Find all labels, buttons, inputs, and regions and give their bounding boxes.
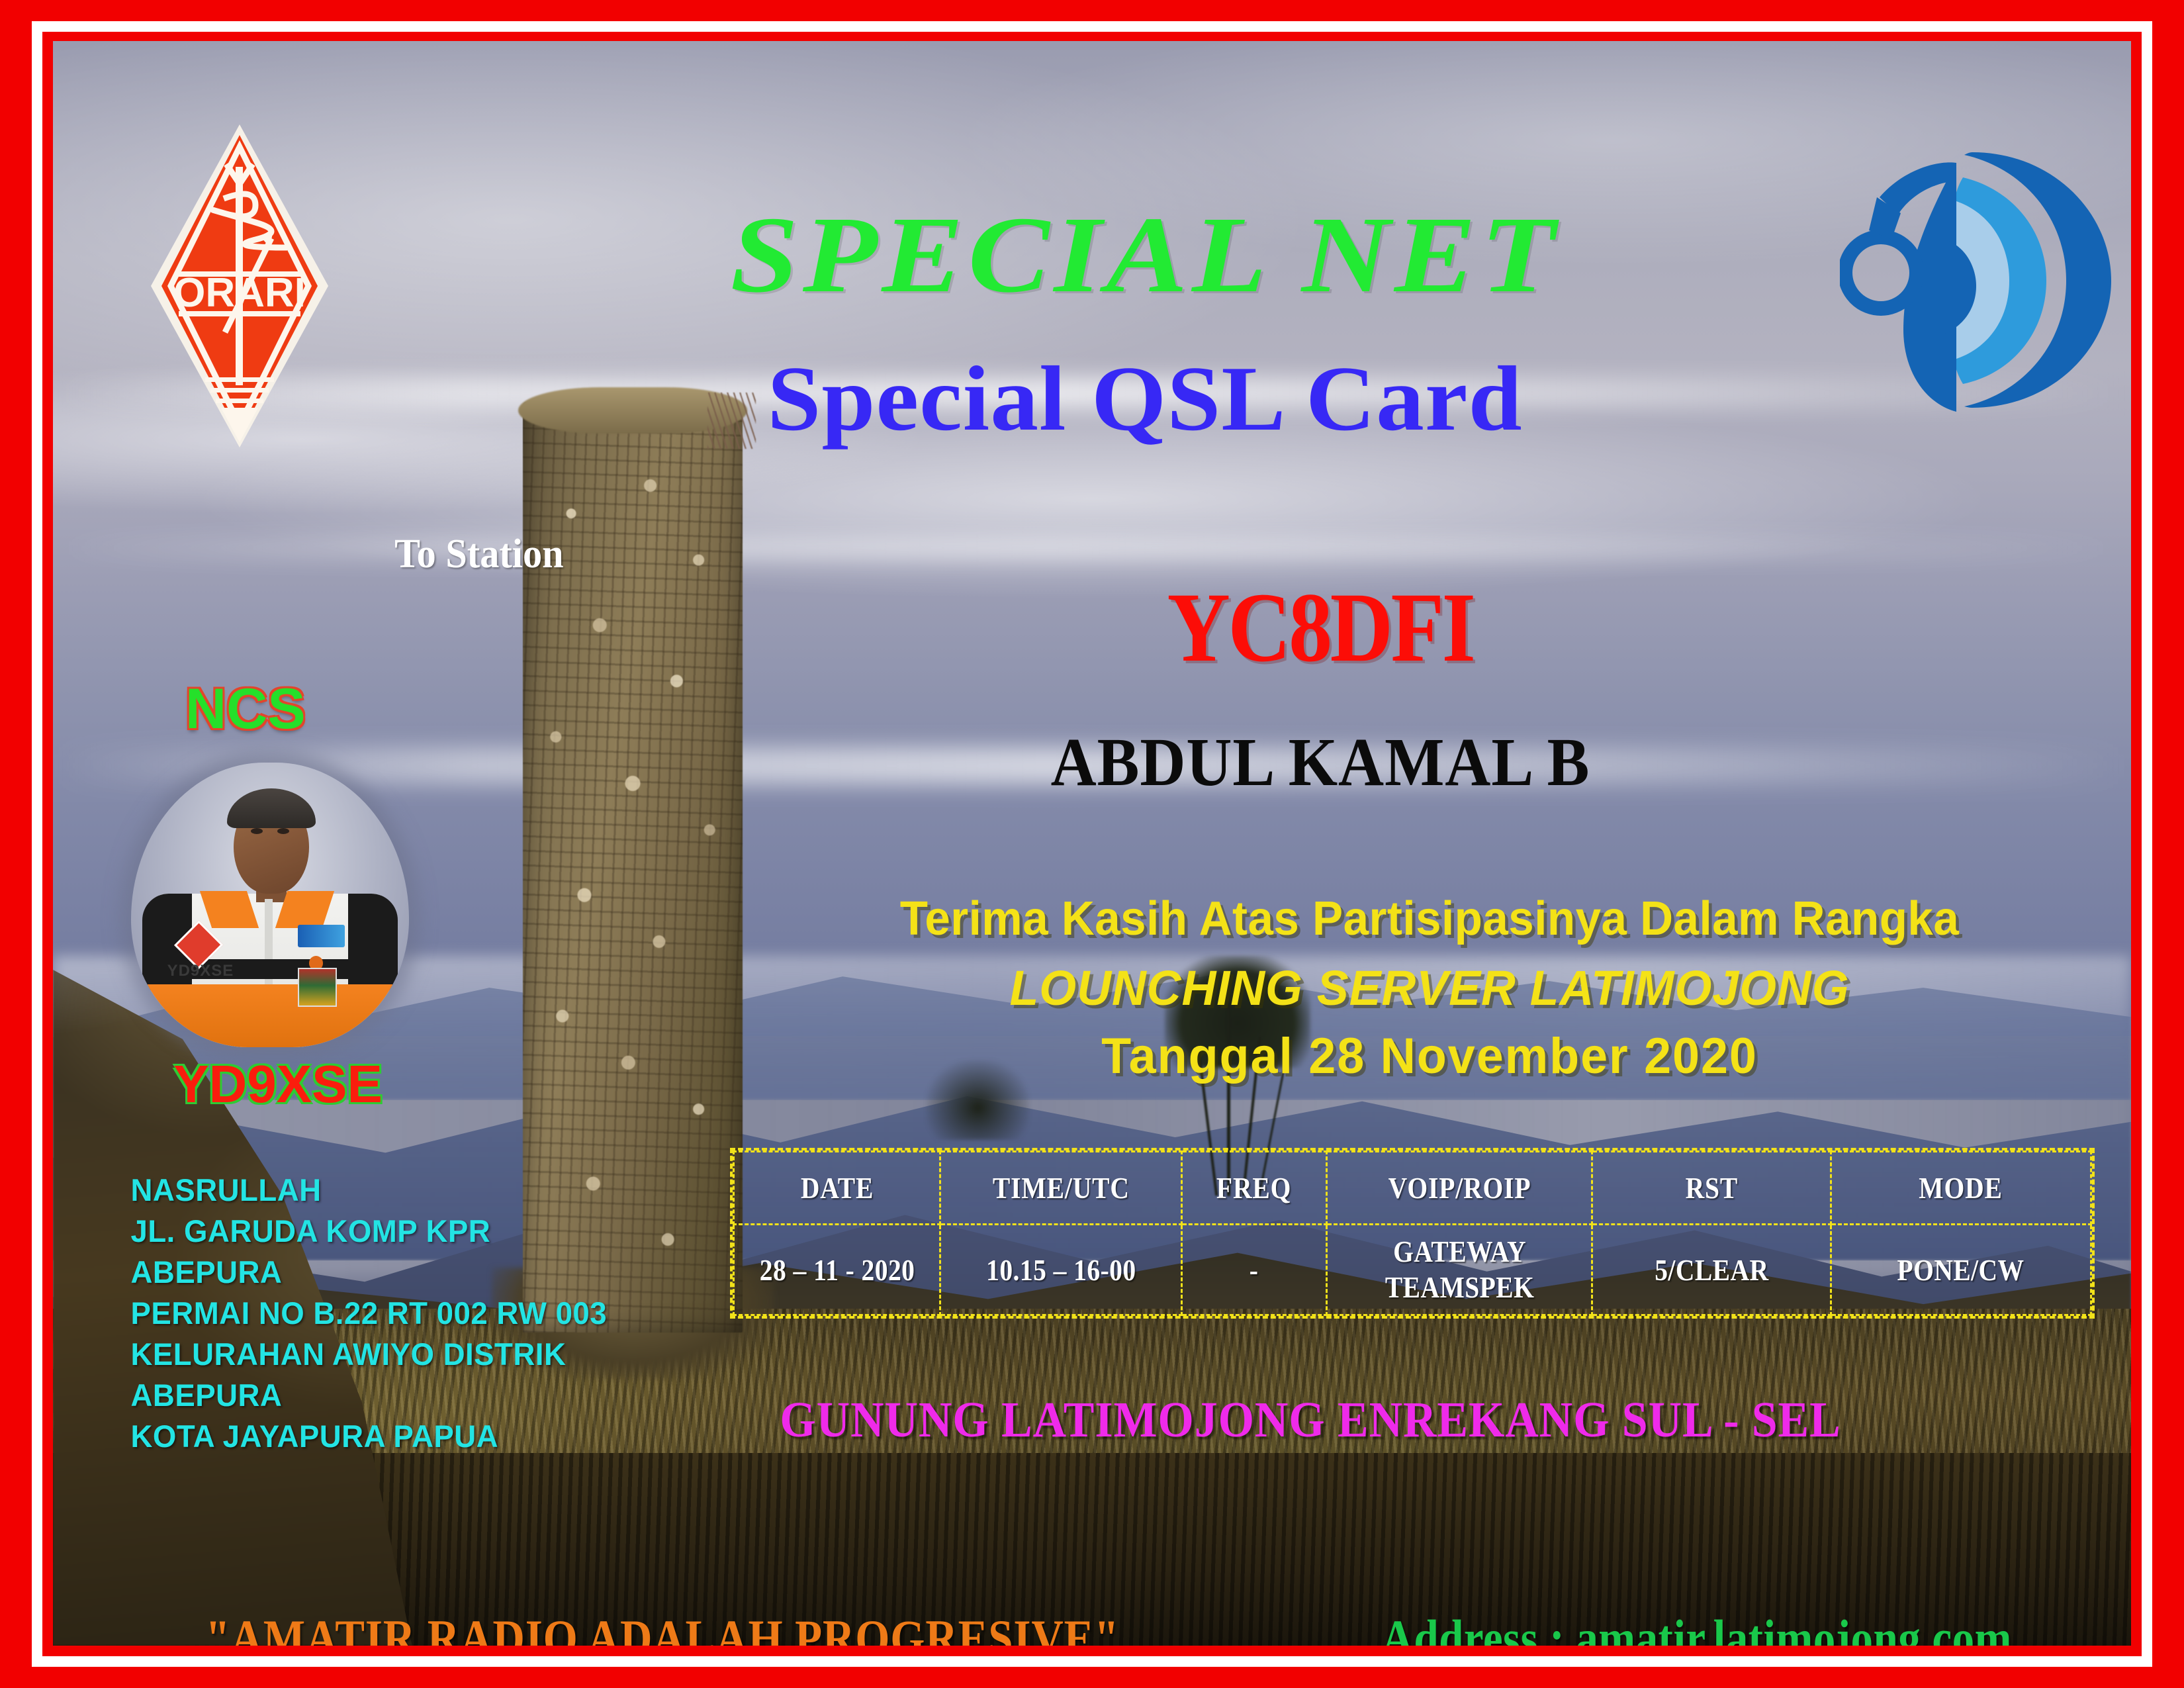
avatar-chest-badge — [298, 925, 345, 947]
cell-date: 28 – 11 - 2020 — [748, 1225, 925, 1315]
motto-text: "AMATIR RADIO ADALAH PROGRESIVE" — [205, 1609, 1119, 1646]
avatar-shirt-waist — [148, 984, 392, 1047]
column-header-voip: VOIP/ROIP — [1345, 1152, 1574, 1225]
qso-details-table: DATE TIME/UTC FREQ VOIP/ROIP RST MODE 28… — [730, 1148, 2095, 1319]
cell-rst: 5/CLEAR — [1609, 1225, 1814, 1315]
location-line: GUNUNG LATIMOJONG ENREKANG SUL - SEL — [580, 1391, 2041, 1449]
cell-time: 10.15 – 16-00 — [957, 1225, 1165, 1315]
web-address: Address : amatir.latimojong.com — [1382, 1609, 2012, 1646]
address-line: NASRULLAH — [131, 1170, 709, 1211]
address-line: PERMAI NO B.22 RT 002 RW 003 — [131, 1293, 709, 1334]
address-line: ABEPURA — [131, 1252, 709, 1293]
ncs-label: NCS — [185, 677, 306, 742]
card-photo-area: ORARI — [53, 41, 2131, 1646]
cell-voip-line1: GATEWAY — [1347, 1234, 1572, 1270]
thanks-line: Terima Kasih Atas Partisipasinya Dalam R… — [775, 892, 2084, 946]
event-line: LOUNCHING SERVER LATIMOJONG — [768, 960, 2091, 1016]
event-date-line: Tanggal 28 November 2020 — [768, 1027, 2091, 1085]
cell-voip-line2: TEAMSPEK — [1347, 1270, 1572, 1305]
recipient-name: ABDUL KAMAL B — [818, 723, 1823, 802]
column-header-mode: MODE — [1849, 1152, 2073, 1225]
column-header-date: DATE — [748, 1152, 925, 1225]
table-header-row: DATE TIME/UTC FREQ VOIP/ROIP RST MODE — [734, 1152, 2091, 1225]
ncs-callsign: YD9XSE — [146, 1054, 410, 1115]
avatar-id-card — [298, 968, 337, 1008]
qsl-card: ORARI — [0, 0, 2184, 1688]
page-title: SPECIAL NET — [53, 192, 2131, 318]
column-header-freq: FREQ — [1192, 1152, 1317, 1225]
cell-mode: PONE/CW — [1849, 1225, 2073, 1315]
content-layer: ORARI — [53, 41, 2131, 1646]
table-row: 28 – 11 - 2020 10.15 – 16-00 - GATEWAY T… — [734, 1225, 2091, 1315]
column-header-time: TIME/UTC — [957, 1152, 1165, 1225]
column-header-rst: RST — [1609, 1152, 1814, 1225]
avatar-shirt-callsign: YD9XSE — [167, 962, 256, 980]
page-subtitle: Special QSL Card — [53, 346, 2131, 452]
recipient-callsign: YC8DFI — [840, 571, 1801, 684]
ncs-operator-avatar: YD9XSE — [131, 763, 409, 1047]
to-station-label: To Station — [394, 531, 563, 578]
cell-freq: - — [1192, 1225, 1317, 1315]
address-line: JL. GARUDA KOMP KPR — [131, 1211, 709, 1252]
cell-voip: GATEWAY TEAMSPEK — [1345, 1225, 1574, 1315]
address-line: KELURAHAN AWIYO DISTRIK — [131, 1334, 709, 1375]
